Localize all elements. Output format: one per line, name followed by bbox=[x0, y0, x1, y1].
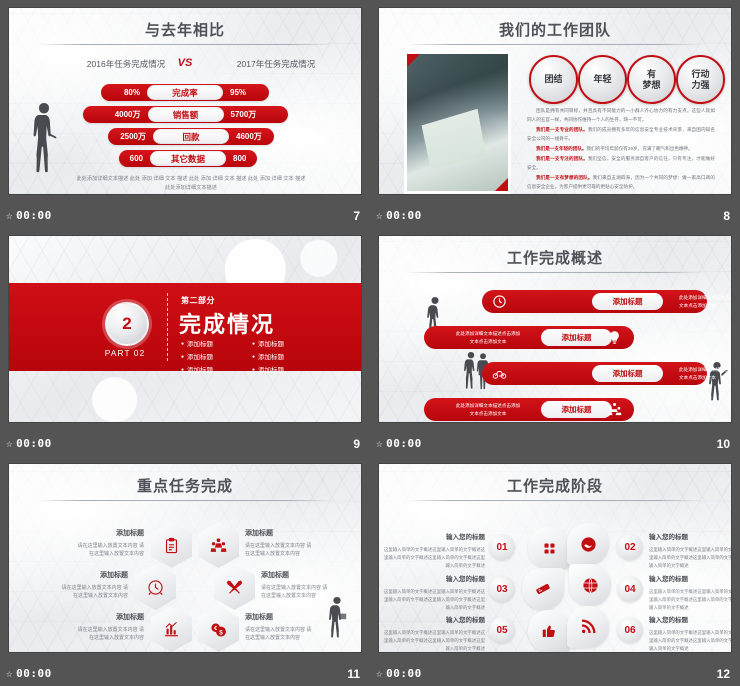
stage-leaf-5[interactable] bbox=[528, 610, 570, 652]
task-label-2: 添加标题 请在这里输入放置文本内容 请 在这里输入放置文本内容 bbox=[245, 528, 342, 559]
paragraph-4: 我们是一支专注的团队。我们坚信，安全的服务源自客户的信任，只有专注，才能做好安全… bbox=[527, 155, 715, 173]
page-number: 11 bbox=[347, 667, 360, 681]
bullet-item[interactable]: 添加标题 bbox=[181, 364, 240, 374]
stage-text-2: 输入您的标题 这里输入简单的文字概述这里输入简单的文字概述这里输入简单的文字概述… bbox=[649, 532, 731, 569]
clock-icon bbox=[147, 579, 164, 596]
page-number: 10 bbox=[717, 437, 730, 451]
title-divider bbox=[38, 500, 332, 501]
star-icon[interactable]: ☆ bbox=[376, 438, 383, 449]
bar-value-left: 2500万 bbox=[108, 128, 153, 145]
stage-text-1: 输入您的标题 这里输入简单的文字概述这里输入简单的文字概述这里输入简单的文字概述… bbox=[381, 532, 485, 569]
row-description: 此处添加详细文本描述点击添加 文本点击添加文本 bbox=[679, 366, 731, 382]
team-description: 团队是拥有共同目标，并且具有不同能力的一小群人齐心协力的有力支点。这些人就如同人… bbox=[527, 107, 715, 192]
bar-value-left: 4000万 bbox=[83, 106, 148, 123]
grid-icon bbox=[542, 541, 557, 556]
slide-footer: ☆ 00:00 11 bbox=[0, 664, 370, 686]
bar-value-right: 4600万 bbox=[229, 128, 274, 145]
banner-divider bbox=[167, 293, 168, 361]
page-title: 工作完成概述 bbox=[379, 247, 731, 268]
star-icon[interactable]: ☆ bbox=[6, 438, 13, 449]
photo-corner-bottom-right bbox=[495, 178, 508, 191]
timer-value: 00:00 bbox=[16, 209, 52, 222]
slide-footer: ☆ 00:00 9 bbox=[0, 434, 370, 456]
bullet-item[interactable]: 添加标题 bbox=[181, 338, 240, 348]
bar-label: 销售额 bbox=[148, 107, 224, 122]
team-photo bbox=[407, 54, 508, 191]
slide-cell-7[interactable]: 与去年相比 2016年任务完成情况 VS 2017年任务完成情况 80% 完成率… bbox=[0, 0, 370, 228]
cloud-icon bbox=[580, 536, 597, 553]
slide-11[interactable]: 重点任务完成 bbox=[9, 464, 361, 652]
stage-heading: 输入您的标题 bbox=[649, 574, 731, 586]
stage-number-3[interactable]: 03 bbox=[489, 576, 515, 602]
star-icon[interactable]: ☆ bbox=[6, 210, 13, 221]
paragraph-2: 我们是一支专业的团队。我们的成员拥有多年的信息安全专业技术背景，来自国内知名安全… bbox=[527, 126, 715, 144]
title-divider bbox=[408, 500, 702, 501]
paragraph-3: 我们是一支年轻的团队。我们的平均年龄仅有26岁，充满了朝气和出色精神。 bbox=[527, 145, 715, 154]
bicycle-icon bbox=[492, 366, 507, 381]
stage-number-1[interactable]: 01 bbox=[489, 534, 515, 560]
task-text: 请在这里输入放置文本内容 请 在这里输入放置文本内容 bbox=[261, 585, 327, 600]
row-label[interactable]: 添加标题 bbox=[592, 365, 663, 382]
vs-label: VS bbox=[165, 57, 205, 69]
slide-cell-9[interactable]: 2 PART 02 第二部分 完成情况 添加标题 添加标题 添加标题 添加标题 … bbox=[0, 228, 370, 456]
slide-cell-11[interactable]: 重点任务完成 bbox=[0, 456, 370, 686]
row-label[interactable]: 添加标题 bbox=[541, 329, 612, 346]
bar-value-right: 95% bbox=[223, 84, 269, 101]
task-heading: 添加标题 bbox=[47, 612, 144, 624]
trait-circle-2[interactable]: 年轻 bbox=[578, 55, 627, 104]
overview-row-2[interactable]: 此处添加详细文本描述点击添加 文本点击添加文本 添加标题 bbox=[424, 326, 634, 349]
slide-footer: ☆ 00:00 12 bbox=[370, 664, 740, 686]
trait-circle-3[interactable]: 有 梦想 bbox=[627, 55, 676, 104]
ticket-icon bbox=[535, 581, 551, 597]
trait-label: 有 梦想 bbox=[642, 69, 660, 89]
slide-9[interactable]: 2 PART 02 第二部分 完成情况 添加标题 添加标题 添加标题 添加标题 … bbox=[9, 236, 361, 422]
task-heading: 添加标题 bbox=[47, 528, 144, 540]
star-icon[interactable]: ☆ bbox=[376, 668, 383, 679]
slide-cell-12[interactable]: 工作完成阶段 01 02 03 bbox=[370, 456, 740, 686]
timer-value: 00:00 bbox=[16, 437, 52, 450]
page-title: 工作完成阶段 bbox=[379, 475, 731, 496]
overview-row-4[interactable]: 此处添加详细文本描述点击添加 文本点击添加文本 添加标题 bbox=[424, 398, 634, 421]
task-text: 请在这里输入放置文本内容 请 在这里输入放置文本内容 bbox=[62, 585, 128, 600]
timer[interactable]: ☆ 00:00 bbox=[6, 209, 52, 222]
footnote-line-2: 此处添加详细文本描述 bbox=[53, 184, 329, 193]
timer[interactable]: ☆ 00:00 bbox=[6, 667, 52, 680]
column-header-right: 2017年任务完成情况 bbox=[221, 58, 331, 70]
slide-12[interactable]: 工作完成阶段 01 02 03 bbox=[379, 464, 731, 652]
compare-bar-4[interactable]: 600 其它数据 800 bbox=[119, 150, 257, 167]
page-number: 8 bbox=[723, 209, 730, 223]
trait-label: 年轻 bbox=[593, 74, 611, 84]
stage-text-4: 输入您的标题 这里输入简单的文字概述这里输入简单的文字概述这里输入简单的文字概述… bbox=[649, 574, 731, 611]
stage-heading: 输入您的标题 bbox=[381, 615, 485, 627]
task-heading: 添加标题 bbox=[245, 528, 342, 540]
star-icon[interactable]: ☆ bbox=[376, 210, 383, 221]
title-divider bbox=[408, 44, 702, 45]
bar-value-left: 80% bbox=[101, 84, 147, 101]
timer-value: 00:00 bbox=[386, 437, 422, 450]
bar-label: 完成率 bbox=[147, 85, 223, 100]
clipboard-icon bbox=[163, 537, 180, 554]
slide-footer: ☆ 00:00 10 bbox=[370, 434, 740, 456]
clock-icon bbox=[492, 294, 507, 309]
row-description: 此处添加详细文本描述点击添加 文本点击添加文本 bbox=[442, 330, 534, 346]
bullet-item[interactable]: 添加标题 bbox=[181, 351, 240, 361]
overview-row-3[interactable]: 添加标题 此处添加详细文本描述点击添加 文本点击添加文本 bbox=[482, 362, 707, 385]
stage-leaf-1[interactable] bbox=[528, 527, 570, 569]
slide-footer: ☆ 00:00 8 bbox=[370, 206, 740, 228]
trait-label: 团结 bbox=[544, 74, 562, 84]
stage-leaf-6[interactable] bbox=[567, 606, 609, 648]
row-description: 此处添加详细文本描述点击添加 文本点击添加文本 bbox=[679, 294, 731, 310]
title-divider bbox=[408, 272, 702, 273]
timer-value: 00:00 bbox=[16, 667, 52, 680]
stage-heading: 输入您的标题 bbox=[649, 532, 731, 544]
page-number: 12 bbox=[717, 667, 730, 681]
task-label-6: 添加标题 请在这里输入放置文本内容 请 在这里输入放置文本内容 bbox=[245, 612, 342, 643]
bar-value-left: 600 bbox=[119, 150, 150, 167]
task-heading: 添加标题 bbox=[261, 570, 358, 582]
task-label-4: 添加标题 请在这里输入放置文本内容 请 在这里输入放置文本内容 bbox=[261, 570, 358, 601]
trait-circle-4[interactable]: 行动 力强 bbox=[676, 55, 725, 104]
bullet-item[interactable]: 添加标题 bbox=[252, 364, 311, 374]
row-label[interactable]: 添加标题 bbox=[541, 401, 612, 418]
slide-7[interactable]: 与去年相比 2016年任务完成情况 VS 2017年任务完成情况 80% 完成率… bbox=[9, 8, 361, 194]
stage-body: 这里输入简单的文字概述这里输入简单的文字概述这里输入简单的文字概述这里输入简单的… bbox=[649, 630, 731, 651]
task-text: 请在这里输入放置文本内容 请 在这里输入放置文本内容 bbox=[245, 627, 311, 642]
group-icon bbox=[210, 537, 227, 554]
slide-cell-10[interactable]: 工作完成概述 添加标题 bbox=[370, 228, 740, 456]
star-icon[interactable]: ☆ bbox=[6, 668, 13, 679]
page-number: 9 bbox=[353, 437, 360, 451]
stage-heading: 输入您的标题 bbox=[649, 615, 731, 627]
row-label[interactable]: 添加标题 bbox=[592, 293, 663, 310]
compare-bar-2[interactable]: 4000万 销售额 5700万 bbox=[83, 106, 288, 123]
part-label: PART 02 bbox=[95, 348, 155, 358]
compare-bar-1[interactable]: 80% 完成率 95% bbox=[101, 84, 269, 101]
slide-cell-8[interactable]: 我们的工作团队 团结 年轻 有 梦想 行动 力强 团队是拥有共同目标，并且具有不… bbox=[370, 0, 740, 228]
timer-value: 00:00 bbox=[386, 667, 422, 680]
timer[interactable]: ☆ 00:00 bbox=[6, 437, 52, 450]
chart-icon bbox=[163, 621, 180, 638]
stage-text-5: 输入您的标题 这里输入简单的文字概述这里输入简单的文字概述这里输入简单的文字概述… bbox=[381, 615, 485, 652]
stage-text-3: 输入您的标题 这里输入简单的文字概述这里输入简单的文字概述这里输入简单的文字概述… bbox=[381, 574, 485, 611]
svg-text:$: $ bbox=[219, 629, 223, 636]
timer-value: 00:00 bbox=[386, 209, 422, 222]
stage-heading: 输入您的标题 bbox=[381, 574, 485, 586]
stage-body: 这里输入简单的文字概述这里输入简单的文字概述这里输入简单的文字概述这里输入简单的… bbox=[649, 589, 731, 610]
timer[interactable]: ☆ 00:00 bbox=[376, 437, 422, 450]
slide-8[interactable]: 我们的工作团队 团结 年轻 有 梦想 行动 力强 团队是拥有共同目标，并且具有不… bbox=[379, 8, 731, 194]
trait-label: 行动 力强 bbox=[691, 69, 709, 89]
stage-number-2[interactable]: 02 bbox=[617, 534, 643, 560]
globe-icon bbox=[582, 577, 599, 594]
footnote: 此处添加详细文本描述 此处 添加 详细 文本 描述 此处 添加 详细 文本 描述… bbox=[53, 175, 329, 193]
task-label-1: 添加标题 请在这里输入放置文本内容 请 在这里输入放置文本内容 bbox=[47, 528, 144, 559]
rss-icon bbox=[580, 619, 596, 635]
task-text: 请在这里输入放置文本内容 请 在这里输入放置文本内容 bbox=[245, 543, 311, 558]
page-title: 与去年相比 bbox=[9, 19, 361, 40]
timer[interactable]: ☆ 00:00 bbox=[376, 667, 422, 680]
stage-number-4[interactable]: 04 bbox=[617, 576, 643, 602]
stage-number-5[interactable]: 05 bbox=[489, 617, 515, 643]
thumb-icon bbox=[541, 623, 557, 639]
section-subtitle: 第二部分 bbox=[181, 295, 215, 306]
bar-label: 回款 bbox=[153, 129, 229, 144]
task-label-3: 添加标题 请在这里输入放置文本内容 请 在这里输入放置文本内容 bbox=[31, 570, 128, 601]
section-bullet-list: 添加标题 添加标题 添加标题 添加标题 添加标题 添加标题 bbox=[181, 338, 311, 374]
paragraph-5: 我们是一支有梦想的团队。我们来自五湖四海，因为一个共同的梦想：做一家高口碑的信息… bbox=[527, 174, 715, 192]
stage-heading: 输入您的标题 bbox=[381, 532, 485, 544]
task-heading: 添加标题 bbox=[245, 612, 342, 624]
task-label-5: 添加标题 请在这里输入放置文本内容 请 在这里输入放置文本内容 bbox=[47, 612, 144, 643]
stage-leaf-2[interactable] bbox=[567, 523, 609, 565]
stage-body: 这里输入简单的文字概述这里输入简单的文字概述这里输入简单的文字概述这里输入简单的… bbox=[384, 589, 485, 610]
compare-bar-3[interactable]: 2500万 回款 4600万 bbox=[108, 128, 274, 145]
task-heading: 添加标题 bbox=[31, 570, 128, 582]
stage-leaf-3[interactable] bbox=[522, 568, 564, 610]
photo-corner-top-left bbox=[407, 54, 420, 67]
tools-icon bbox=[226, 579, 243, 596]
stage-body: 这里输入简单的文字概述这里输入简单的文字概述这里输入简单的文字概述这里输入简单的… bbox=[384, 630, 485, 651]
slide-footer: ☆ 00:00 7 bbox=[0, 206, 370, 228]
overview-row-1[interactable]: 添加标题 此处添加详细文本描述点击添加 文本点击添加文本 bbox=[482, 290, 707, 313]
bar-label: 其它数据 bbox=[150, 151, 226, 166]
section-number-badge: 2 bbox=[105, 302, 149, 346]
bar-value-right: 800 bbox=[226, 150, 257, 167]
timer[interactable]: ☆ 00:00 bbox=[376, 209, 422, 222]
page-title: 重点任务完成 bbox=[9, 475, 361, 496]
page-title: 我们的工作团队 bbox=[379, 19, 731, 40]
task-text: 请在这里输入放置文本内容 请 在这里输入放置文本内容 bbox=[78, 627, 144, 642]
bullet-item[interactable]: 添加标题 bbox=[252, 338, 311, 348]
section-heading: 完成情况 bbox=[179, 307, 275, 339]
stage-number-6[interactable]: 06 bbox=[617, 617, 643, 643]
stage-text-6: 输入您的标题 这里输入简单的文字概述这里输入简单的文字概述这里输入简单的文字概述… bbox=[649, 615, 731, 652]
bar-value-right: 5700万 bbox=[224, 106, 289, 123]
stage-leaf-4[interactable] bbox=[569, 564, 611, 606]
bullet-item[interactable]: 添加标题 bbox=[252, 351, 311, 361]
page-number: 7 bbox=[353, 209, 360, 223]
businessman-silhouette bbox=[31, 101, 57, 173]
paragraph-1: 团队是拥有共同目标，并且具有不同能力的一小群人齐心协力的有力支点。这些人就如同人… bbox=[527, 107, 715, 125]
slide-thumbnail-grid: 与去年相比 2016年任务完成情况 VS 2017年任务完成情况 80% 完成率… bbox=[0, 0, 740, 686]
title-divider bbox=[38, 44, 332, 45]
row-description: 此处添加详细文本描述点击添加 文本点击添加文本 bbox=[442, 402, 534, 418]
people-icon bbox=[607, 402, 622, 417]
bulb-icon bbox=[607, 330, 622, 345]
trait-circle-1[interactable]: 团结 bbox=[529, 55, 578, 104]
stage-body: 这里输入简单的文字概述这里输入简单的文字概述这里输入简单的文字概述这里输入简单的… bbox=[649, 547, 731, 568]
slide-10[interactable]: 工作完成概述 添加标题 bbox=[379, 236, 731, 422]
footnote-line-1: 此处添加详细文本描述 此处 添加 详细 文本 描述 此处 添加 详细 文本 描述… bbox=[53, 175, 329, 184]
task-text: 请在这里输入放置文本内容 请 在这里输入放置文本内容 bbox=[78, 543, 144, 558]
money-icon: $€ bbox=[210, 621, 227, 638]
stage-body: 这里输入简单的文字概述这里输入简单的文字概述这里输入简单的文字概述这里输入简单的… bbox=[384, 547, 485, 568]
